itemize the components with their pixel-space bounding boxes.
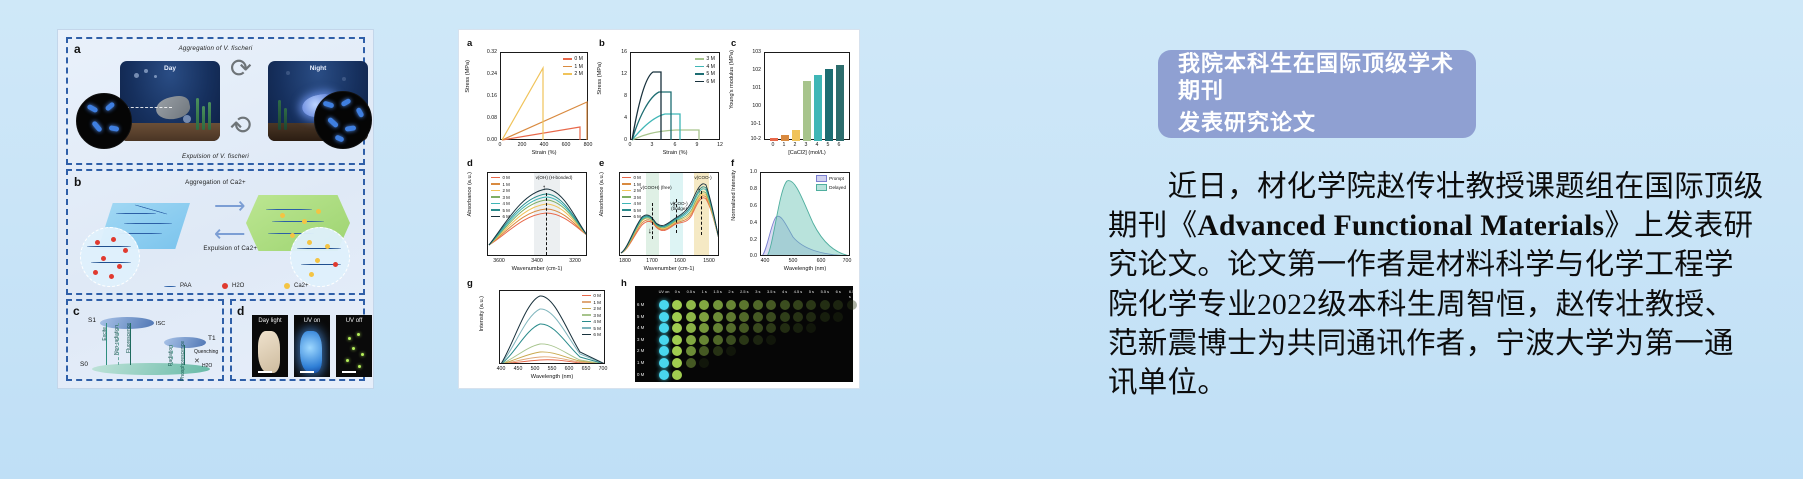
figure-panel-d-annotation: v(OH) (H-bonded) (522, 175, 586, 180)
legend-label: 1 M (593, 300, 601, 305)
figure-panel-g-axes: 0 M 1 M 2 M 3 M 4 M 5 M 6 M (499, 290, 605, 364)
heatmap-column-header: 5 s (809, 289, 814, 294)
xtick: 9 (696, 142, 699, 148)
heatmap-cell (726, 323, 736, 333)
down-arrow-icon: ↑ (648, 227, 652, 235)
legend-swatch (622, 216, 631, 218)
legend-swatch (622, 183, 631, 185)
heatmap-cell (820, 300, 830, 310)
calcium-ion (280, 213, 285, 218)
legend-swatch (491, 183, 500, 185)
heatmap-column-header: UV on (659, 289, 670, 294)
legend-label: 6 M (706, 79, 715, 85)
heatmap-cell (806, 312, 816, 322)
heatmap-row-header: 1 M (637, 360, 644, 365)
figure-panel-b-legend: 3 M 4 M 5 M 6 M (695, 56, 715, 85)
heatmap-cell (699, 335, 709, 345)
legend-item: 4 M (491, 201, 510, 206)
legend-swatch (582, 314, 591, 316)
heatmap-cell (793, 323, 803, 333)
legend-item: 6 M (695, 79, 715, 85)
figure-panel-b-axes: 3 M 4 M 5 M 6 M (630, 52, 720, 140)
figure-panel-f-legend: Prompt Delayed (816, 175, 846, 191)
legend-label: 5 M (503, 208, 510, 213)
photo-day-light-caption: Day light (252, 318, 288, 324)
xtick: 600 (817, 258, 826, 264)
t1-label: T1 (208, 335, 216, 342)
heatmap-column-header: 5.5 s (821, 289, 829, 294)
heatmap-column-header: 1.5 s (713, 289, 721, 294)
ytick: 10-1 (741, 121, 761, 127)
article-line-2-prefix: 期刊《 (1108, 210, 1197, 242)
seaweed (196, 98, 199, 130)
heatmap-cell (659, 358, 669, 368)
heatmap-cell (713, 300, 723, 310)
research-figure: a Stress (MPa) 0.32 0.24 0.16 0.08 0.00 … (458, 29, 860, 389)
legend-label: 1 M (634, 182, 641, 187)
legend-item: 3 M (622, 195, 641, 200)
figure-panel-a-axes: 0 M 1 M 2 M (500, 52, 588, 140)
figure-panel-g: g Intensity (a.u.) 0 M 1 M 2 M 3 M (465, 278, 615, 386)
ytick: 0.24 (475, 71, 497, 77)
calcium-ion (302, 219, 307, 224)
polymer-chain (116, 213, 156, 214)
xtick: 500 (789, 258, 798, 264)
xtick: 1500 (703, 258, 715, 264)
gel-zoom-inset (80, 227, 140, 287)
heatmap-cell (713, 312, 723, 322)
legend-label: 3 M (706, 56, 715, 62)
excite-label: Excite (102, 327, 108, 341)
legend-label: Prompt (829, 176, 844, 181)
figure-panel-f-ylabel: Normalized Intensity (731, 170, 737, 221)
figure-panel-g-label: g (467, 278, 473, 289)
heatmap-column-header: 4 s (782, 289, 787, 294)
day-illustration: Day (120, 61, 220, 141)
legend-swatch (491, 216, 500, 218)
xtick: 3 (651, 142, 654, 148)
legend-label: 1 M (503, 182, 510, 187)
xtick: 600 (565, 366, 574, 372)
figure-panel-a-legend: 0 M 1 M 2 M (563, 56, 583, 77)
legend-swatch (695, 73, 704, 75)
scheme-legend-paa: PAA (164, 283, 192, 289)
figure-panel-d: d Absorbance (a.u.) ↑ v(OH) (H-bonded) (465, 158, 593, 276)
article-line-2: 期刊《Advanced Functional Materials》上发表研 (1108, 207, 1768, 246)
figure-panel-b-xlabel: Strain (%) (630, 150, 720, 156)
legend-swatch (563, 73, 572, 75)
figure-panel-e-annotation-3: v(COO-) (688, 175, 718, 180)
heatmap-cell (847, 300, 857, 310)
heatmap-cell (713, 346, 723, 356)
legend-item: 0 M (563, 56, 583, 62)
xtick: 400 (497, 366, 506, 372)
heatmap-cell (686, 358, 696, 368)
figure-panel-e-label: e (599, 158, 604, 169)
bubble (183, 115, 191, 123)
heatmap-cell (780, 300, 790, 310)
figure-panel-e-annotation-1: v(COOH) (free) (638, 185, 674, 190)
calcium-ion (315, 258, 320, 263)
gel-zoom-inset-ca (290, 227, 350, 287)
heatmap-cell (686, 335, 696, 345)
legend-item: 0 M (491, 175, 510, 180)
xtick: 3 (805, 142, 808, 148)
xtick: 0 (772, 142, 775, 148)
figure-panel-e-ylabel: Absorbance (a.u.) (599, 172, 605, 216)
legend-label: 2 M (574, 71, 583, 77)
quenching-water-label: H2O (202, 363, 212, 369)
heatmap-cell (713, 323, 723, 333)
annotation-dashline (652, 203, 653, 239)
heatmap-cell (780, 312, 790, 322)
ytick: 0.00 (475, 137, 497, 143)
figure-panel-f-xlabel: Wavelength (nm) (760, 266, 850, 272)
bacterium (86, 104, 98, 114)
bacterium (334, 134, 344, 142)
heatmap-cell (793, 300, 803, 310)
figure-panel-e-axes: ↑ ↑ ↑ v(COOH) (free) v(COO-) (bridge) v(… (619, 172, 719, 256)
seaweed (202, 106, 205, 130)
legend-swatch (582, 334, 591, 336)
figure-panel-d-legend: 0 M 1 M 2 M 3 M 4 M 5 M 6 M (491, 175, 510, 219)
xtick: 1700 (646, 258, 658, 264)
legend-swatch (695, 81, 704, 83)
figure-panel-a-xlabel: Strain (%) (500, 150, 588, 156)
aggregation-arrow-icon: ⟶ (214, 195, 246, 217)
ytick: 103 (741, 49, 761, 55)
scheme-panel-d-label: d (237, 304, 244, 318)
xtick: 400 (540, 142, 549, 148)
scheme-legend-paa-label: PAA (180, 283, 192, 289)
figure-panel-d-axes: ↑ v(OH) (H-bonded) 0 M 1 M 2 M 3 M 4 M 5… (487, 172, 587, 256)
glow-dot (352, 347, 355, 350)
legend-swatch (563, 66, 572, 68)
heatmap-cell (739, 300, 749, 310)
figure-panel-f: f Normalized Intensity 1.0 0.8 0.6 0.4 0… (729, 158, 855, 276)
calcium-ion (309, 272, 314, 277)
bacterium (109, 125, 120, 132)
legend-swatch (491, 177, 500, 179)
calcium-ion (307, 240, 312, 245)
heatmap-cell (753, 335, 763, 345)
legend-item: 5 M (622, 208, 641, 213)
xtick: 700 (843, 258, 852, 264)
water-molecule (95, 240, 100, 245)
bacterium (355, 107, 364, 118)
heatmap-cell (699, 346, 709, 356)
xtick: 6 (838, 142, 841, 148)
s1-label: S1 (88, 317, 96, 324)
heatmap-cell (672, 335, 682, 345)
glow-dot (361, 353, 364, 356)
photo-day-light: Day light (252, 315, 288, 377)
legend-label: 3 M (503, 195, 510, 200)
bacteria-micrograph-day (76, 93, 132, 149)
xtick: 1600 (674, 258, 686, 264)
xtick: 600 (562, 142, 571, 148)
headline-banner: 我院本科生在国际顶级学术期刊 发表研究论文 (1158, 50, 1476, 138)
legend-label: 3 M (593, 313, 601, 318)
xtick: 800 (584, 142, 593, 148)
scheme-panel-b-top-caption: Aggregation of Ca2+ (185, 179, 246, 186)
legend-label: 6 M (593, 332, 601, 337)
scheme-legend-calcium-label: Ca2+ (294, 283, 309, 289)
xtick: 5 (827, 142, 830, 148)
figure-panel-g-ylabel: Intensity (a.u.) (479, 296, 485, 331)
day-label: Day (120, 65, 220, 72)
xtick: 3400 (531, 258, 543, 264)
ytick: 101 (741, 85, 761, 91)
legend-item: 0 M (622, 175, 641, 180)
heatmap-cell (686, 346, 696, 356)
bacterium (340, 98, 351, 107)
legend-item: 6 M (491, 214, 510, 219)
legend-swatch (816, 184, 827, 191)
heatmap-cell (659, 346, 669, 356)
heatmap-cell (659, 323, 669, 333)
legend-label: Delayed (829, 185, 846, 190)
heatmap-cell (726, 346, 736, 356)
up-arrow-icon: ↑ (542, 184, 546, 192)
heatmap-cell (672, 358, 682, 368)
scale-bar (258, 371, 272, 373)
heatmap-cell (672, 323, 682, 333)
scheme-panel-a: a Aggregation of V. fischeri Expulsion o… (66, 37, 365, 165)
article-line-2-suffix: 》上发表研 (1604, 210, 1753, 242)
legend-swatch (582, 327, 591, 329)
sea-floor (120, 123, 220, 141)
heatmap-cell (686, 323, 696, 333)
legend-item: 6 M (582, 332, 601, 337)
heatmap-cell (833, 312, 843, 322)
legend-label: 0 M (634, 175, 641, 180)
heatmap-cell (780, 323, 790, 333)
figure-panel-b: b Stress (MPa) 16 12 8 4 0 3 M 4 M 5 M 6… (597, 38, 725, 156)
xtick: 1 (783, 142, 786, 148)
figure-panel-a: a Stress (MPa) 0.32 0.24 0.16 0.08 0.00 … (465, 38, 593, 156)
legend-swatch (622, 190, 631, 192)
figure-panel-h-label: h (621, 278, 627, 289)
legend-item: 1 M (491, 182, 510, 187)
scale-bar (342, 371, 356, 373)
legend-item: 5 M (491, 208, 510, 213)
scheme-panel-c: c S1 T1 S0 Excite Non-radiation Fluoresc… (66, 299, 224, 381)
bacterium (322, 100, 334, 108)
heatmap-cell (753, 300, 763, 310)
legend-label: 2 M (593, 306, 601, 311)
sample-shape (258, 331, 280, 373)
heatmap-cell (726, 312, 736, 322)
annotation-dashline (701, 191, 702, 235)
quenching-cross-icon: ✕ (194, 357, 200, 365)
scheme-panel-d: d Day light UV on UV off (230, 299, 365, 381)
ytick: 0.32 (475, 49, 497, 55)
legend-swatch (491, 203, 500, 205)
legend-label: 4 M (593, 319, 601, 324)
xtick: 1800 (619, 258, 631, 264)
ytick: 10-2 (741, 136, 761, 142)
heatmap-column-header: 4.5 s (794, 289, 802, 294)
bacterium (327, 117, 339, 129)
heatmap-cell (699, 323, 709, 333)
up-arrow-icon: ↑ (697, 187, 701, 195)
night-label: Night (268, 65, 368, 72)
figure-panel-c-xlabel: [CaCl2] (mol/L) (764, 150, 850, 156)
xtick: 0 (629, 142, 632, 148)
journal-name: Advanced Functional Materials (1197, 210, 1604, 242)
heatmap-row-header: 5 M (637, 314, 644, 319)
legend-swatch (491, 196, 500, 198)
heatmap-cell (672, 370, 682, 380)
legend-swatch (695, 58, 704, 60)
legend-label: 1 M (574, 64, 583, 70)
legend-label: 2 M (634, 188, 641, 193)
heatmap-cell (686, 300, 696, 310)
scale-bar (300, 371, 314, 373)
legend-swatch (582, 301, 591, 303)
legend-item: Prompt (816, 175, 846, 182)
ytick: 16 (609, 49, 627, 55)
ytick: 1.0 (741, 169, 757, 175)
glow-dot (357, 333, 360, 336)
legend-item: 2 M (491, 188, 510, 193)
heatmap-cell (699, 358, 709, 368)
legend-item: Delayed (816, 184, 846, 191)
xtick: 500 (531, 366, 540, 372)
ytick: 100 (741, 103, 761, 109)
legend-label: 4 M (503, 201, 510, 206)
water-molecule (93, 270, 98, 275)
heatmap-cell (659, 370, 669, 380)
figure-panel-a-label: a (467, 38, 472, 49)
quenching-label: Quenching (194, 349, 218, 355)
scheme-panel-b: b Aggregation of Ca2+ Expulsion of Ca2+ (66, 169, 365, 295)
heatmap-row-header: 2 M (637, 348, 644, 353)
scheme-figure: a Aggregation of V. fischeri Expulsion o… (57, 29, 374, 389)
legend-swatch (582, 321, 591, 323)
xtick: 450 (514, 366, 523, 372)
legend-item: 1 M (582, 300, 601, 305)
sample-shape (300, 331, 322, 373)
bacterium (345, 125, 357, 131)
legend-swatch (622, 177, 631, 179)
water-molecule (333, 262, 338, 267)
paa-chain-icon (164, 286, 176, 287)
figure-panel-c-ylabel: Young's modulus (MPa) (729, 50, 735, 109)
xtick: 550 (548, 366, 557, 372)
figure-panel-b-label: b (599, 38, 605, 49)
legend-item: 3 M (695, 56, 715, 62)
heatmap-cell (766, 323, 776, 333)
legend-swatch (816, 175, 827, 182)
heatmap-cell (766, 312, 776, 322)
photo-uv-on-caption: UV on (294, 318, 330, 324)
water-molecule (111, 237, 116, 242)
figure-panel-c-axes (764, 52, 850, 140)
phosphorescence-label: Phosphorescence (180, 341, 186, 381)
legend-item: 3 M (491, 195, 510, 200)
legend-item: 4 M (695, 64, 715, 70)
xtick: 700 (599, 366, 608, 372)
photo-uv-off-caption: UV off (336, 318, 372, 324)
ytick: 12 (609, 71, 627, 77)
legend-item: 2 M (582, 306, 601, 311)
heatmap-row-header: 3 M (637, 337, 644, 342)
water-molecule (101, 256, 106, 261)
heatmap-cell (659, 312, 669, 322)
heatmap-cell (726, 300, 736, 310)
figure-panel-b-ylabel: Stress (MPa) (597, 62, 603, 95)
figure-panel-c-label: c (731, 38, 736, 49)
figure-panel-f-axes: Prompt Delayed (760, 172, 850, 256)
legend-swatch (491, 190, 500, 192)
legend-item: 5 M (582, 326, 601, 331)
s0-level (92, 363, 210, 375)
legend-label: 6 M (503, 214, 510, 219)
heatmap-cell (686, 312, 696, 322)
ytick: 0.08 (475, 115, 497, 121)
water-icon (222, 283, 228, 289)
figure-panel-e-legend: 0 M 1 M 2 M 3 M 4 M 5 M 6 M (622, 175, 641, 219)
legend-label: 3 M (634, 195, 641, 200)
heatmap-cell (753, 323, 763, 333)
heatmap-column-header: 0.5 s (687, 289, 695, 294)
heatmap-column-header: 6 s (836, 289, 841, 294)
heatmap-cell (766, 300, 776, 310)
heatmap-cell (726, 335, 736, 345)
water-molecule (117, 264, 122, 269)
headline-line-1: 我院本科生在国际顶级学术期刊 (1178, 51, 1456, 105)
ytick: 8 (609, 93, 627, 99)
legend-label: 2 M (503, 188, 510, 193)
heatmap-cell (806, 323, 816, 333)
legend-item: 1 M (622, 182, 641, 187)
heatmap-cell (833, 300, 843, 310)
water-molecule (109, 274, 114, 279)
legend-swatch (622, 209, 631, 211)
heatmap-column-header: 1 s (702, 289, 707, 294)
heatmap-cell (713, 335, 723, 345)
legend-swatch (582, 308, 591, 310)
legend-label: 0 M (574, 56, 583, 62)
legend-item: 2 M (622, 188, 641, 193)
heatmap-cell (672, 346, 682, 356)
heatmap-column-header: 3.5 s (767, 289, 775, 294)
ytick: 0.16 (475, 93, 497, 99)
xtick: 12 (717, 142, 723, 148)
figure-panel-d-xlabel: Wavenumber (cm-1) (487, 266, 587, 272)
ytick: 0.2 (741, 237, 757, 243)
legend-item: 6 M (622, 214, 641, 219)
legend-label: 5 M (593, 326, 601, 331)
legend-label: 4 M (634, 201, 641, 206)
scheme-panel-a-bottom-caption: Expulsion of V. fischeri (182, 153, 249, 160)
cycle-arrow-forward-icon: ⟳ (230, 55, 252, 81)
legend-item: 4 M (582, 319, 601, 324)
calcium-ion (290, 233, 295, 238)
headline-line-2: 发表研究论文 (1178, 110, 1456, 137)
article-line-3: 究论文。论文第一作者是材料科学与化学工程学 (1108, 246, 1768, 285)
glow-dot (348, 337, 351, 340)
photo-uv-on: UV on (294, 315, 330, 377)
heatmap-cell (820, 312, 830, 322)
xtick: 3600 (493, 258, 505, 264)
seaweed (208, 102, 211, 130)
xtick: 4 (816, 142, 819, 148)
calcium-icon (284, 283, 290, 289)
heatmap-cell (699, 300, 709, 310)
